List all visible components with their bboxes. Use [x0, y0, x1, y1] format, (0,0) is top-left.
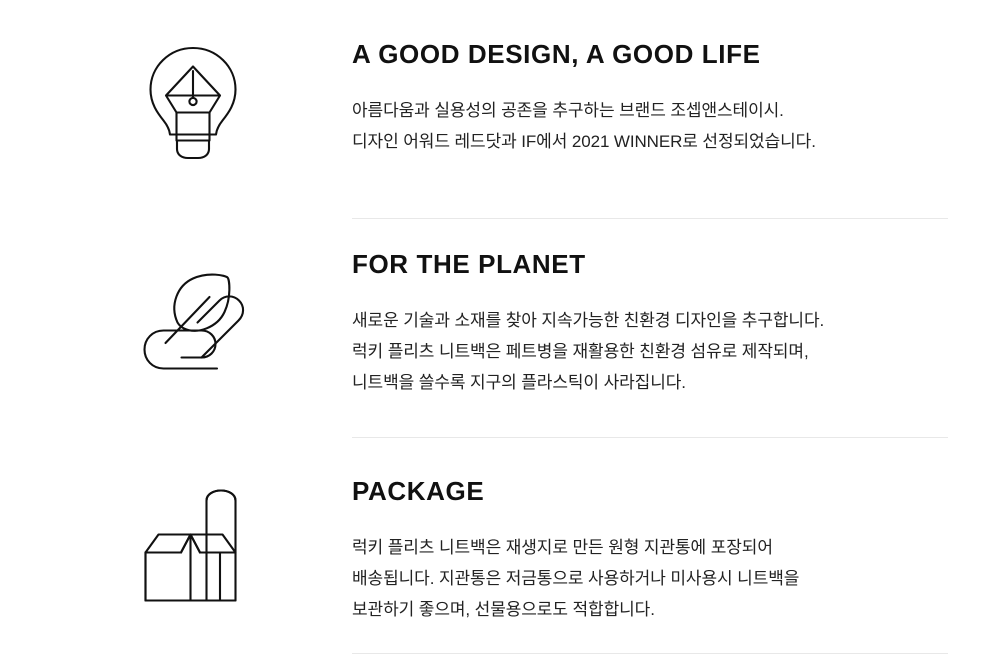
- section-title: PACKAGE: [352, 477, 948, 506]
- lightbulb-pen-nib-icon: [141, 45, 245, 161]
- section-title: FOR THE PLANET: [352, 250, 948, 279]
- icon-column: [0, 477, 352, 601]
- section-divider: [352, 437, 948, 438]
- icon-column: [0, 250, 352, 368]
- body-line: 보관하기 좋으며, 선물용으로도 적합합니다.: [352, 594, 948, 625]
- body-line: 럭키 플리츠 니트백은 페트병을 재활용한 친환경 섬유로 제작되며,: [352, 336, 948, 367]
- body-line: 배송됩니다. 지관통은 저금통으로 사용하거나 미사용시 니트백을: [352, 563, 948, 594]
- hand-holding-leaf-icon: [139, 263, 257, 381]
- body-line: 디자인 어워드 레드닷과 IF에서 2021 WINNER로 선정되었습니다.: [352, 126, 948, 157]
- body-line: 니트백을 쓸수록 지구의 플라스틱이 사라집니다.: [352, 367, 948, 398]
- section-body: 새로운 기술과 소재를 찾아 지속가능한 친환경 디자인을 추구합니다. 럭키 …: [352, 305, 948, 398]
- feature-section-package: PACKAGE 럭키 플리츠 니트백은 재생지로 만든 원형 지관통에 포장되어…: [0, 477, 1000, 625]
- body-line: 새로운 기술과 소재를 찾아 지속가능한 친환경 디자인을 추구합니다.: [352, 305, 948, 336]
- feature-section-for-the-planet: FOR THE PLANET 새로운 기술과 소재를 찾아 지속가능한 친환경 …: [0, 250, 1000, 398]
- body-line: 럭키 플리츠 니트백은 재생지로 만든 원형 지관통에 포장되어: [352, 532, 948, 563]
- section-divider: [352, 653, 948, 654]
- section-title: A GOOD DESIGN, A GOOD LIFE: [352, 40, 948, 69]
- feature-sections-page: A GOOD DESIGN, A GOOD LIFE 아름다움과 실용성의 공존…: [0, 0, 1000, 659]
- text-column: PACKAGE 럭키 플리츠 니트백은 재생지로 만든 원형 지관통에 포장되어…: [352, 477, 1000, 625]
- section-body: 럭키 플리츠 니트백은 재생지로 만든 원형 지관통에 포장되어 배송됩니다. …: [352, 532, 948, 625]
- feature-section-a-good-design: A GOOD DESIGN, A GOOD LIFE 아름다움과 실용성의 공존…: [0, 40, 1000, 157]
- icon-column: [0, 40, 352, 156]
- section-body: 아름다움과 실용성의 공존을 추구하는 브랜드 조셉앤스테이시. 디자인 어워드…: [352, 95, 948, 157]
- open-box-with-tube-icon: [134, 482, 256, 606]
- text-column: FOR THE PLANET 새로운 기술과 소재를 찾아 지속가능한 친환경 …: [352, 250, 1000, 398]
- body-line: 아름다움과 실용성의 공존을 추구하는 브랜드 조셉앤스테이시.: [352, 95, 948, 126]
- text-column: A GOOD DESIGN, A GOOD LIFE 아름다움과 실용성의 공존…: [352, 40, 1000, 157]
- section-divider: [352, 218, 948, 219]
